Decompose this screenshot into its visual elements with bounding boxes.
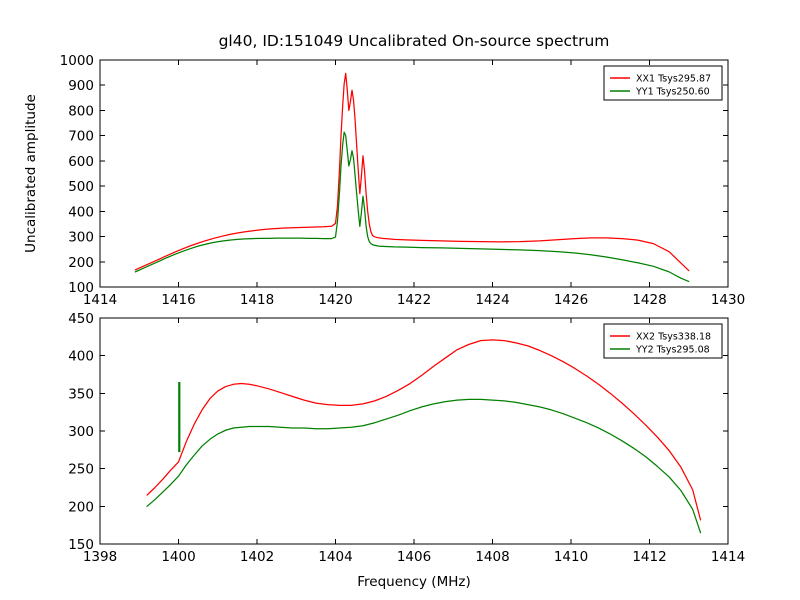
legend-label-2: YY1 Tsys250.60 xyxy=(635,87,710,98)
legend-label-1: XX2 Tsys338.18 xyxy=(636,332,711,343)
x-tick-label: 1410 xyxy=(554,549,588,565)
x-tick-label: 1418 xyxy=(240,292,274,308)
y-tick-label: 800 xyxy=(68,103,94,119)
y-tick-label: 300 xyxy=(68,230,94,246)
y-tick-label: 900 xyxy=(68,78,94,94)
x-tick-label: 1414 xyxy=(711,549,745,565)
page-title: gl40, ID:151049 Uncalibrated On-source s… xyxy=(219,32,610,50)
x-tick-label: 1406 xyxy=(397,549,431,565)
x-tick-label: 1416 xyxy=(161,292,195,308)
x-tick-label: 1400 xyxy=(161,549,195,565)
y-tick-label: 150 xyxy=(68,537,94,553)
x-tick-label: 1420 xyxy=(318,292,352,308)
legend-label-1: XX1 Tsys295.87 xyxy=(636,74,711,85)
x-tick-label: 1424 xyxy=(475,292,509,308)
x-tick-label: 1402 xyxy=(240,549,274,565)
x-tick-label: 1422 xyxy=(397,292,431,308)
y-tick-label: 600 xyxy=(68,154,94,170)
x-tick-label: 1430 xyxy=(711,292,745,308)
y-tick-label: 1000 xyxy=(60,53,94,69)
y-tick-label: 200 xyxy=(68,255,94,271)
y-tick-label: 450 xyxy=(68,311,94,327)
legend-label-2: YY2 Tsys295.08 xyxy=(635,345,710,356)
y-tick-label: 500 xyxy=(68,179,94,195)
x-tick-label: 1408 xyxy=(475,549,509,565)
y-axis-label: Uncalibrated amplitude xyxy=(23,94,39,253)
x-tick-label: 1426 xyxy=(554,292,588,308)
y-tick-label: 100 xyxy=(68,280,94,296)
y-tick-label: 400 xyxy=(68,349,94,365)
spectrum-figure: gl40, ID:151049 Uncalibrated On-source s… xyxy=(0,0,800,600)
y-tick-label: 700 xyxy=(68,129,94,145)
y-tick-label: 400 xyxy=(68,204,94,220)
x-tick-label: 1412 xyxy=(632,549,666,565)
x-tick-label: 1404 xyxy=(318,549,352,565)
figure-canvas: gl40, ID:151049 Uncalibrated On-source s… xyxy=(0,0,800,600)
y-tick-label: 200 xyxy=(68,499,94,515)
y-tick-label: 250 xyxy=(68,462,94,478)
x-tick-label: 1428 xyxy=(632,292,666,308)
y-tick-label: 350 xyxy=(68,386,94,402)
x-axis-label: Frequency (MHz) xyxy=(357,574,470,590)
y-tick-label: 300 xyxy=(68,424,94,440)
